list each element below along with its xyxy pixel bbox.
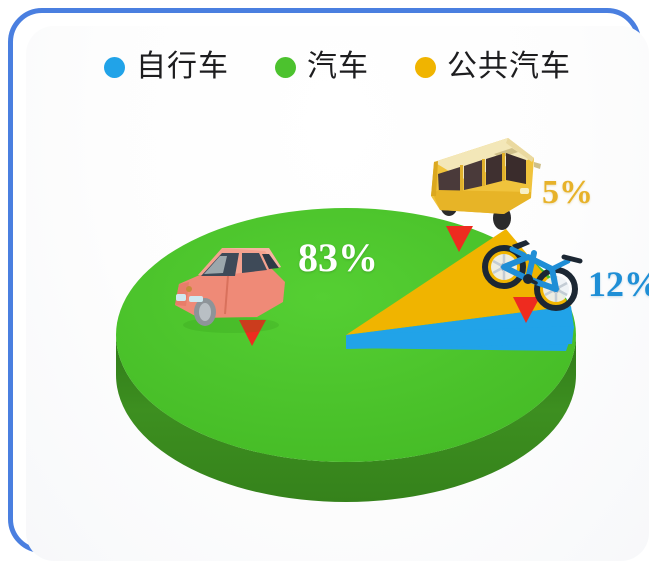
bicycle-icon <box>478 231 586 317</box>
screenshot-canvas: 自行车 汽车 公共汽车 <box>0 0 670 566</box>
chart-card: 自行车 汽车 公共汽车 <box>26 26 649 561</box>
car-icon <box>165 226 297 338</box>
pie-chart: 83% 5% 12% <box>26 26 649 561</box>
bus-icon <box>416 126 546 236</box>
label-bus-percent: 5% <box>542 176 593 210</box>
blue-rounded-frame: 自行车 汽车 公共汽车 <box>8 8 641 553</box>
label-car-percent: 83% <box>298 238 378 278</box>
label-bicycle-percent: 12% <box>588 266 649 302</box>
